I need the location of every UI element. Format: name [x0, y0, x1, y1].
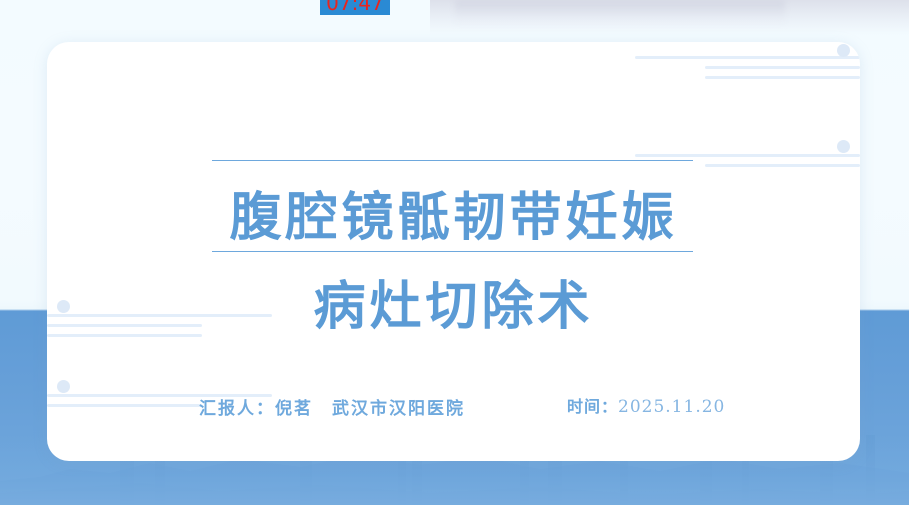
deco-rule — [705, 66, 860, 69]
decoration-top-right-lines-secondary — [635, 154, 860, 174]
deco-dot — [837, 140, 850, 153]
presentation-slide: 腹腔镜骶韧带妊娠 病灶切除术 汇报人：倪茗 武汉市汉阳医院 时间：2025.11… — [0, 0, 909, 505]
title-rule-top — [212, 160, 693, 161]
deco-rule — [705, 164, 860, 167]
timer-badge: 07:47 — [320, 0, 390, 15]
date-value: 2025.11.20 — [618, 397, 725, 417]
date-label: 时间： — [567, 397, 618, 416]
deco-rule — [635, 154, 860, 157]
slide-title-line-2: 病灶切除术 — [47, 264, 860, 339]
presenter-line: 汇报人：倪茗 武汉市汉阳医院 — [199, 394, 465, 419]
deco-rule — [635, 56, 860, 59]
background-top-tint-soft — [455, 0, 785, 26]
slide-title-line-1: 腹腔镜骶韧带妊娠 — [47, 175, 860, 250]
deco-rule — [47, 404, 202, 407]
decoration-top-right-lines — [635, 56, 860, 86]
timer-badge-text: 07:47 — [326, 0, 384, 13]
title-rule-middle — [212, 251, 693, 252]
slide-card: 腹腔镜骶韧带妊娠 病灶切除术 汇报人：倪茗 武汉市汉阳医院 时间：2025.11… — [47, 42, 860, 461]
deco-dot — [837, 44, 850, 57]
date-line: 时间：2025.11.20 — [567, 393, 725, 417]
deco-rule — [705, 76, 860, 79]
deco-dot — [57, 380, 70, 393]
